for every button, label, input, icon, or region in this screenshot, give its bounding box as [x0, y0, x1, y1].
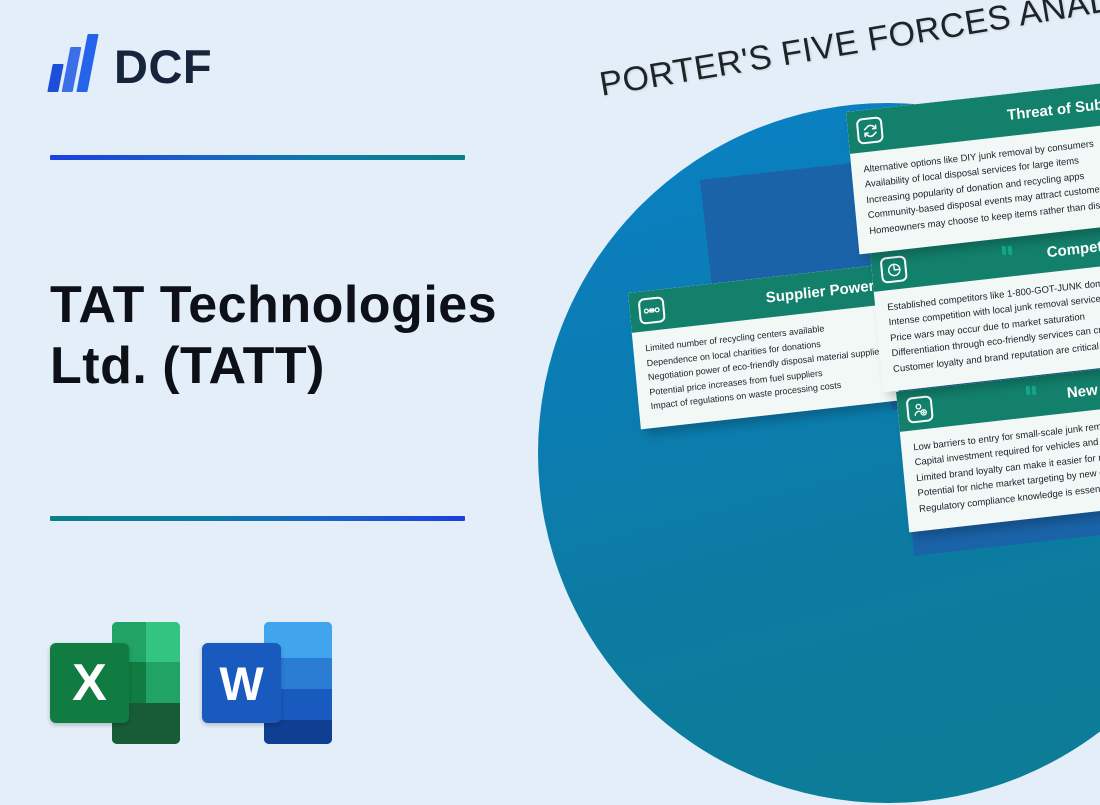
dcf-bars-logo-icon	[48, 36, 100, 96]
excel-file-icon[interactable]: X	[50, 622, 180, 744]
divider-bottom	[50, 516, 465, 521]
divider-top	[50, 155, 465, 160]
card-pin	[1026, 386, 1031, 395]
page-title: TAT Technologies Ltd. (TATT)	[50, 275, 520, 398]
porters-five-forces-page: PORTER'S FIVE FORCES ANALYSIS Threat of …	[0, 0, 1100, 805]
excel-letter: X	[50, 643, 129, 723]
card-pin	[1032, 386, 1037, 395]
handshake-link-icon	[638, 296, 666, 325]
force-card-supplier-power[interactable]: Supplier Power Limited number of recycli…	[628, 264, 899, 429]
brand-name: DCF	[114, 43, 212, 90]
card-title: New Entrants Threat	[1066, 368, 1100, 401]
left-content-panel: DCF TAT Technologies Ltd. (TATT) X W	[0, 0, 560, 805]
word-file-icon[interactable]: W	[202, 622, 332, 744]
card-title: Threat of Substitution	[1006, 89, 1100, 123]
brand-logo[interactable]: DCF	[48, 36, 212, 96]
card-pin	[1002, 246, 1007, 255]
refresh-sync-icon	[856, 116, 884, 145]
card-title: Competitive Rivalry	[1046, 228, 1100, 261]
download-icons: X W	[50, 622, 332, 744]
card-pin	[1008, 246, 1013, 255]
infographic-heading: PORTER'S FIVE FORCES ANALYSIS	[597, 0, 1100, 105]
add-person-icon	[906, 395, 934, 424]
pie-chart-icon	[880, 255, 908, 284]
word-letter: W	[202, 643, 281, 723]
card-title: Supplier Power	[765, 277, 875, 306]
